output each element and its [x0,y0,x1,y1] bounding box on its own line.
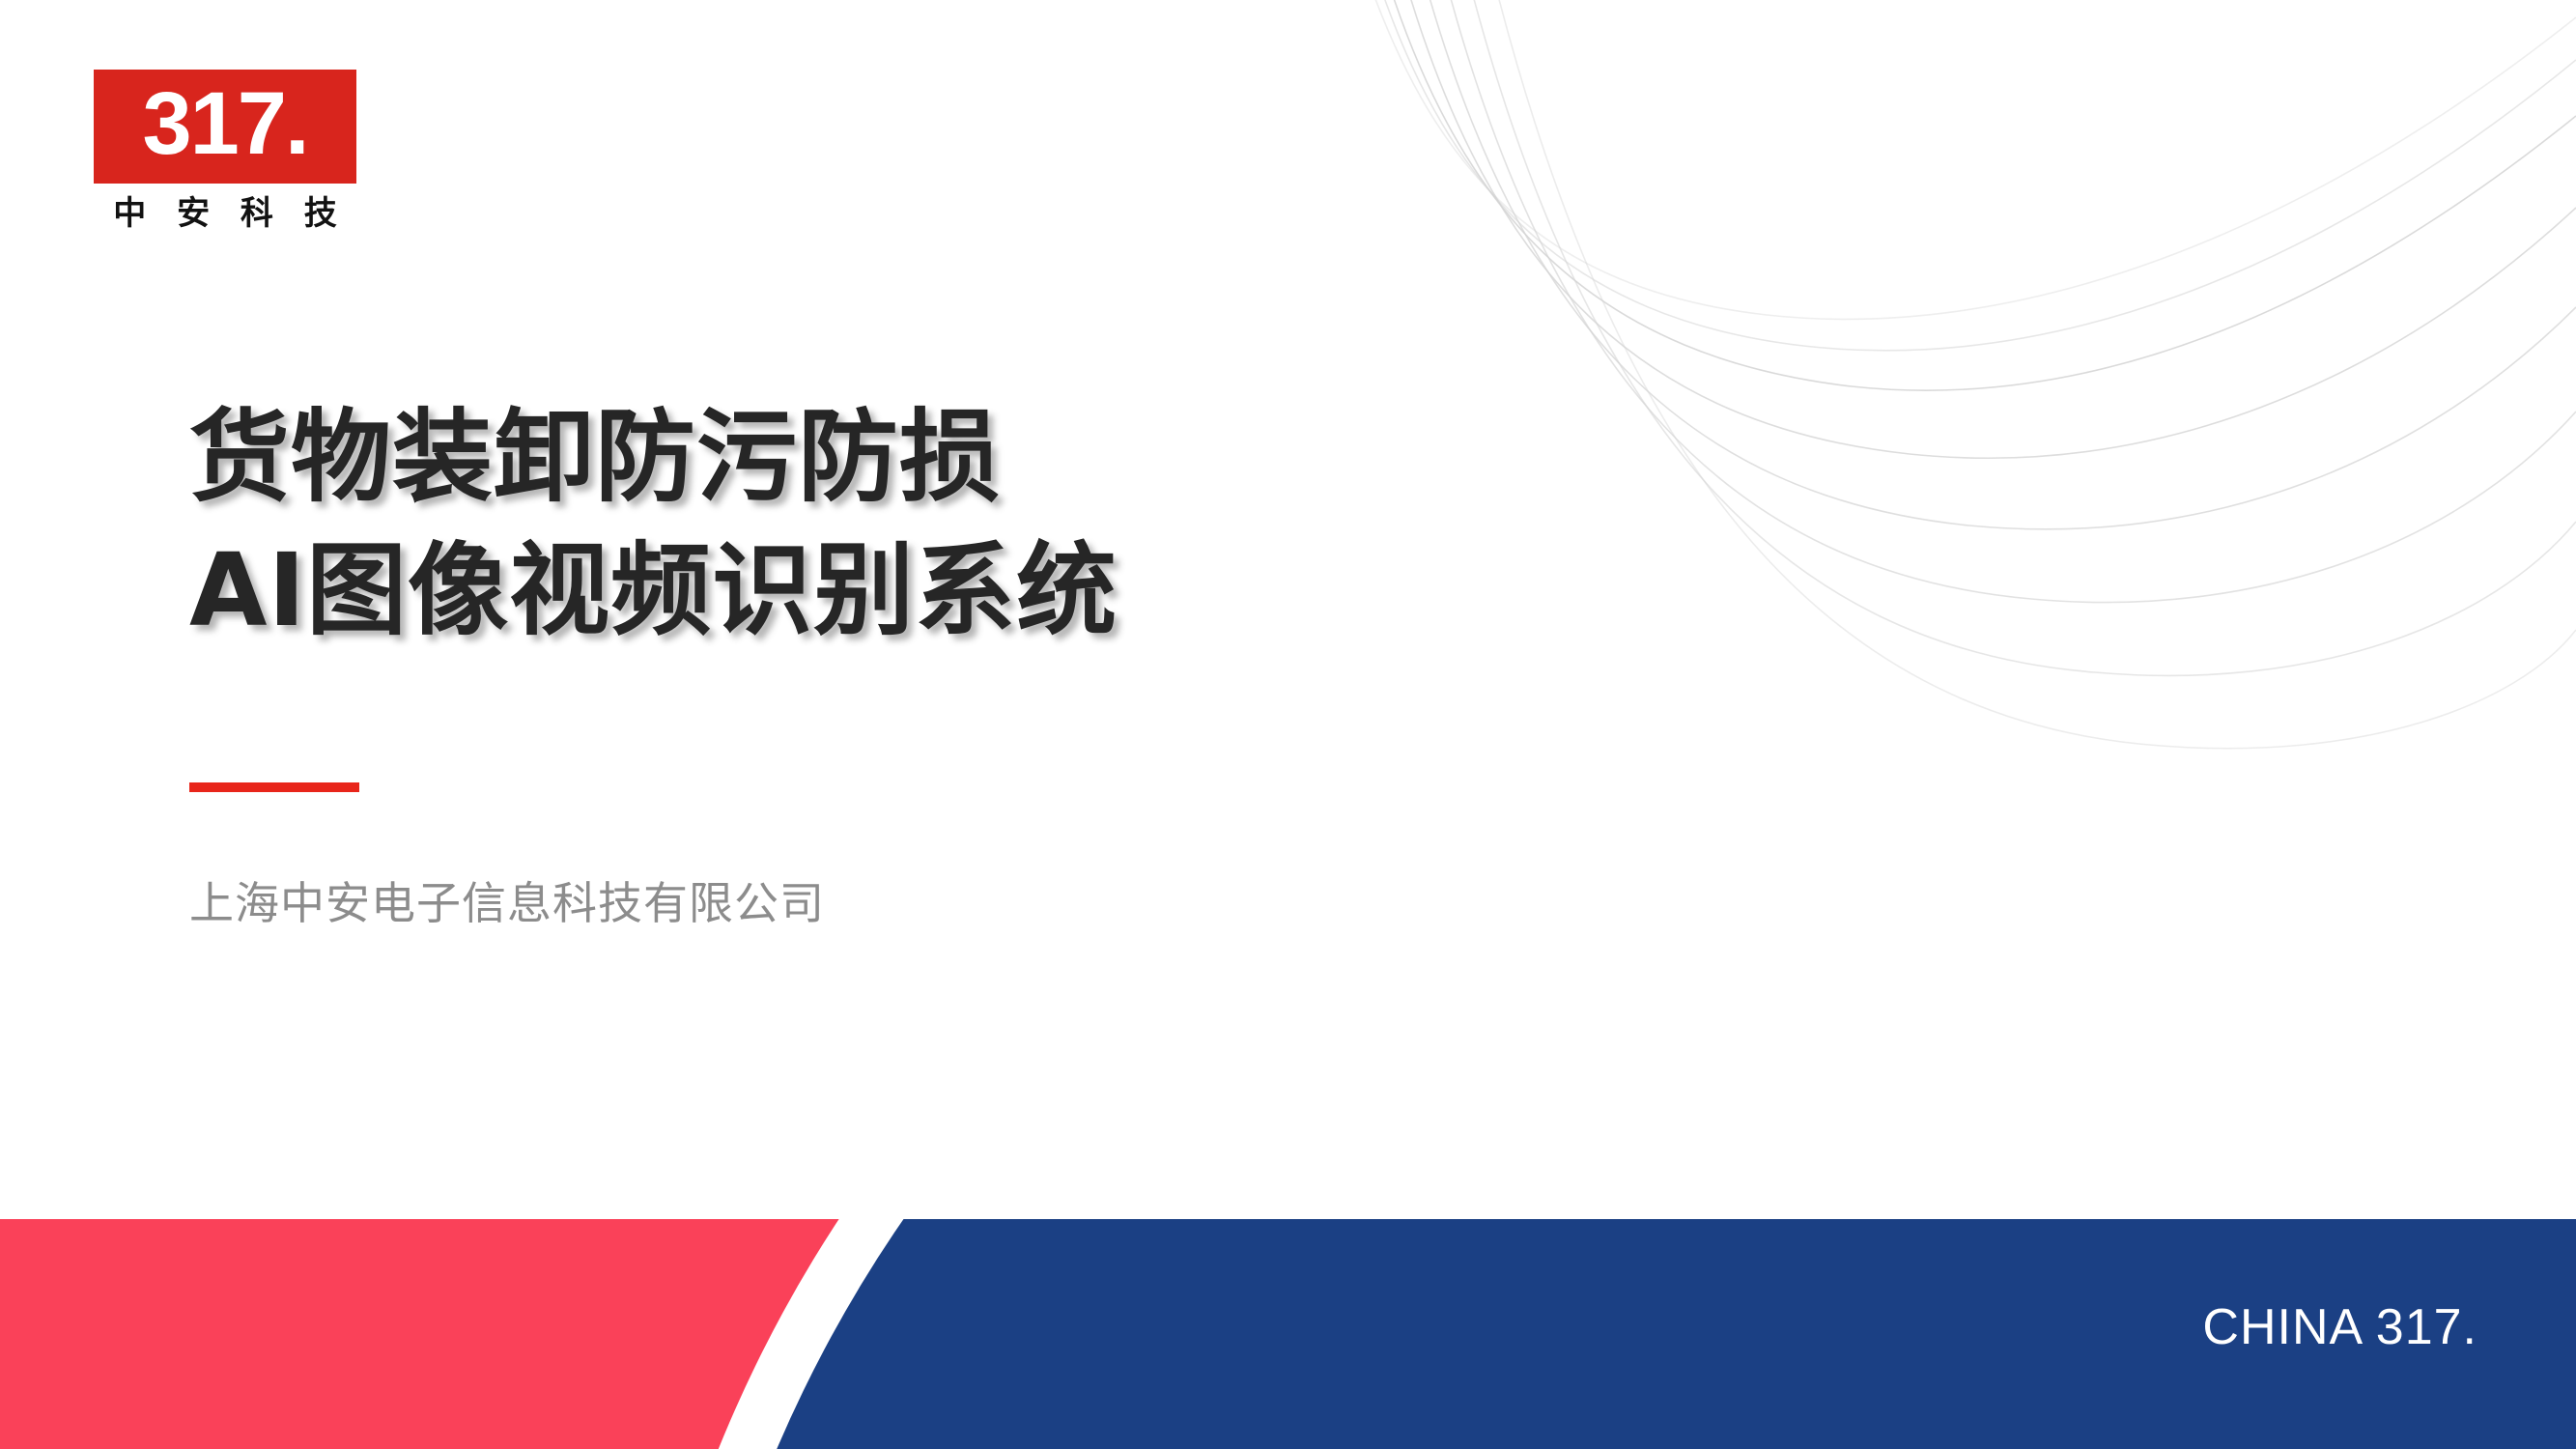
presentation-slide: 317. 中 安 科 技 货物装卸防污防损 AI图像视频识别系统 上海中安电子信… [0,0,2576,1449]
slide-title: 货物装卸防污防损 AI图像视频识别系统 [189,390,1638,658]
slide-title-line-1: 货物装卸防污防损 [189,390,1638,524]
logo-mark-317: 317. [94,70,356,184]
title-divider-rule [189,782,359,792]
bottom-banner: CHINA 317. [0,1219,2576,1449]
slide-title-line-2: AI图像视频识别系统 [189,524,1638,657]
slide-subtitle-company-name: 上海中安电子信息科技有限公司 [189,876,825,932]
logo-mark-text: 317. [142,79,307,168]
company-logo: 317. 中 安 科 技 [94,70,356,232]
logo-company-short-name: 中 安 科 技 [94,197,356,232]
banner-brand-label: CHINA 317. [2202,1298,2477,1356]
